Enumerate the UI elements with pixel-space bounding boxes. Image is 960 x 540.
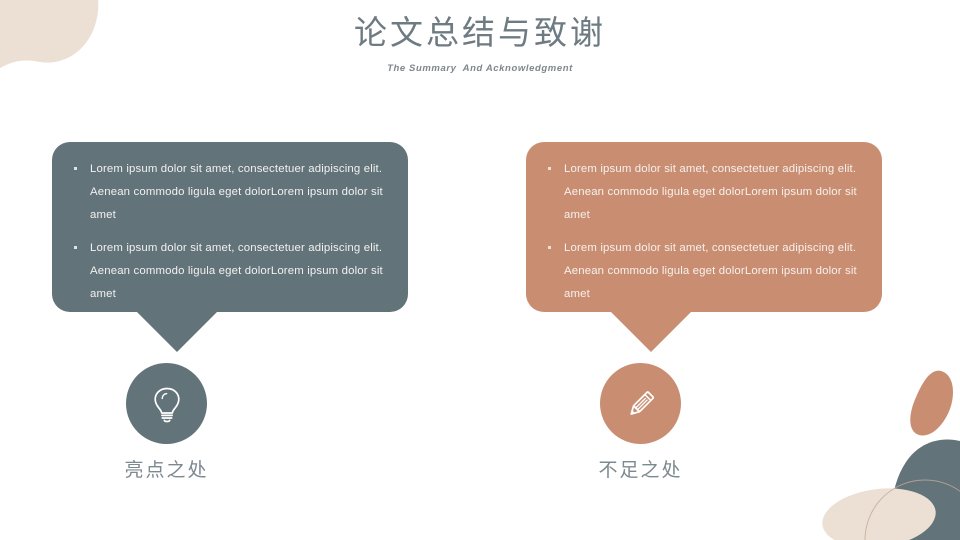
- bullet-text: Lorem ipsum dolor sit amet, consectetuer…: [90, 242, 383, 300]
- list-item: Lorem ipsum dolor sit amet, consectetuer…: [542, 237, 860, 305]
- bullet-list-shortcomings: Lorem ipsum dolor sit amet, consectetuer…: [542, 158, 860, 306]
- bullet-text: Lorem ipsum dolor sit amet, consectetuer…: [564, 163, 857, 221]
- bullet-text: Lorem ipsum dolor sit amet, consectetuer…: [564, 242, 857, 300]
- bullet-list-highlights: Lorem ipsum dolor sit amet, consectetuer…: [68, 158, 386, 306]
- caption-shortcomings: 不足之处: [508, 455, 773, 482]
- bullet-dot-icon: [74, 167, 77, 170]
- column-shortcomings: Lorem ipsum dolor sit amet, consectetuer…: [508, 0, 908, 540]
- caption-highlights: 亮点之处: [34, 455, 299, 482]
- column-highlights: Lorem ipsum dolor sit amet, consectetuer…: [34, 0, 434, 540]
- callout-shortcomings: Lorem ipsum dolor sit amet, consectetuer…: [526, 142, 882, 312]
- icon-badge-shortcomings: [600, 363, 681, 444]
- callout-tail-highlights: [136, 311, 218, 352]
- bullet-dot-icon: [74, 246, 77, 249]
- lightbulb-icon: [144, 381, 190, 427]
- callout-highlights: Lorem ipsum dolor sit amet, consectetuer…: [52, 142, 408, 312]
- list-item: Lorem ipsum dolor sit amet, consectetuer…: [68, 158, 386, 226]
- bullet-dot-icon: [548, 246, 551, 249]
- list-item: Lorem ipsum dolor sit amet, consectetuer…: [542, 158, 860, 226]
- bullet-text: Lorem ipsum dolor sit amet, consectetuer…: [90, 163, 383, 221]
- icon-badge-highlights: [126, 363, 207, 444]
- bullet-dot-icon: [548, 167, 551, 170]
- slide-canvas: 论文总结与致谢 The Summary And Acknowledgment L…: [0, 0, 960, 540]
- blob-bottom-right-clay-shape: [910, 371, 953, 436]
- pencil-icon: [618, 381, 664, 427]
- callout-tail-shortcomings: [610, 311, 692, 352]
- list-item: Lorem ipsum dolor sit amet, consectetuer…: [68, 237, 386, 305]
